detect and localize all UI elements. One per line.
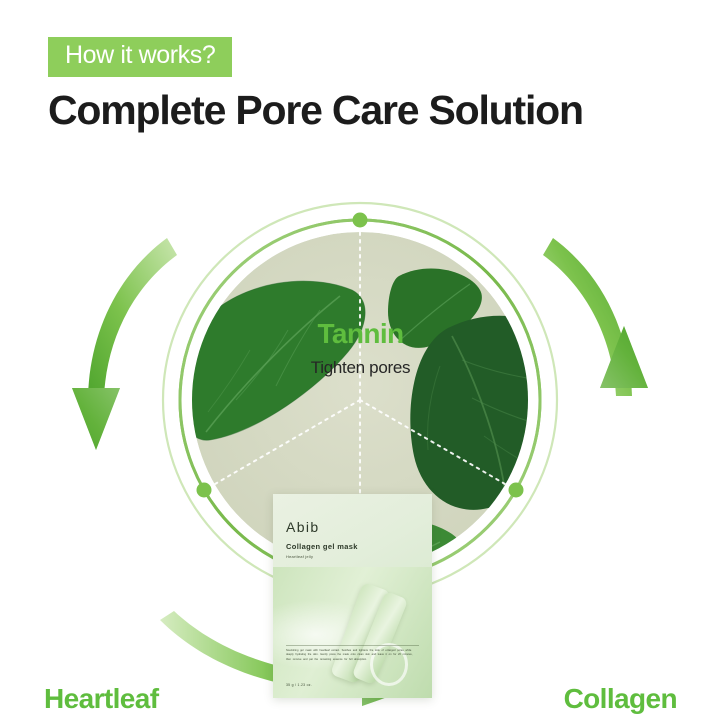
node-title-collagen: Collagen: [564, 685, 677, 713]
product-name: Collagen gel mask: [286, 542, 358, 551]
product-fine-print: Nourishing gel mask with heartleaf extra…: [286, 649, 419, 662]
product-variant: Heartleaf jelly: [286, 554, 313, 559]
product-brand: Abib: [286, 519, 320, 535]
node-title-heartleaf: Heartleaf: [44, 685, 158, 713]
how-it-works-badge: How it works?: [48, 37, 232, 77]
product-volume: 35 g / 1.23 oz.: [286, 683, 312, 687]
page-title: Complete Pore Care Solution: [48, 86, 583, 135]
product-divider: [286, 645, 419, 646]
node-title-tannin: Tannin: [0, 320, 721, 348]
infographic-page: How it works? Complete Pore Care Solutio…: [0, 0, 721, 722]
product-package: Abib Collagen gel mask Heartleaf jelly N…: [273, 494, 432, 698]
node-dot-tannin[interactable]: [353, 213, 368, 228]
node-desc-tannin: Tighten pores: [0, 356, 721, 381]
node-dot-collagen[interactable]: [509, 483, 524, 498]
node-dot-heartleaf[interactable]: [197, 483, 212, 498]
cycle-diagram: Abib Collagen gel mask Heartleaf jelly N…: [0, 150, 721, 722]
